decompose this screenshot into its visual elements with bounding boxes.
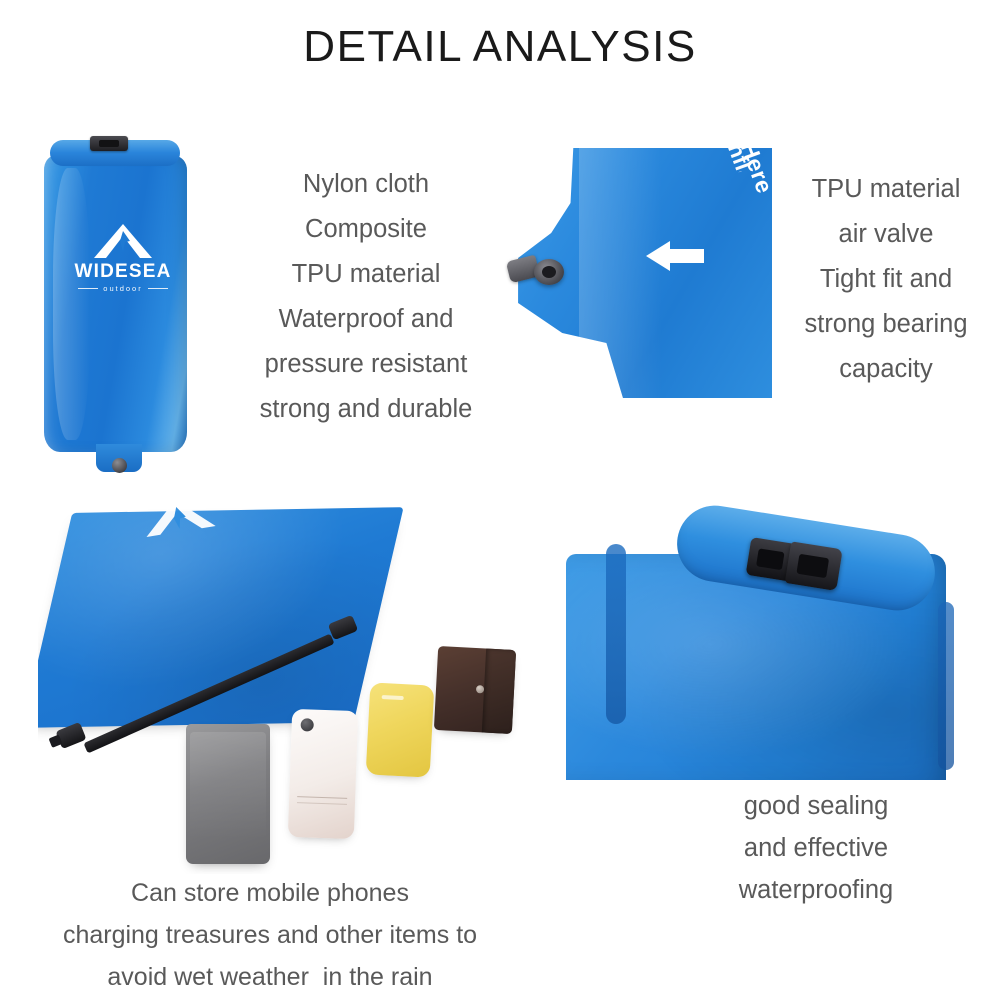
- detail-analysis-page: DETAIL ANALYSIS WIDESEA outdoor Inflatab…: [0, 0, 1000, 1000]
- caption-storage: Can store mobile phones charging treasur…: [30, 872, 510, 998]
- sealing-line-3: waterproofing: [690, 869, 942, 911]
- phone-camera-icon: [300, 718, 313, 731]
- material-line-1: Nylon cloth: [232, 162, 500, 207]
- mountain-peak-icon: [131, 492, 222, 543]
- caption-sealing: good sealing and effective waterproofing: [690, 785, 942, 911]
- material-line-3: TPU material: [232, 252, 500, 297]
- material-line-5: pressure resistant: [232, 342, 500, 387]
- valve-line-5: capacity: [772, 347, 1000, 392]
- item-white-smartphone: [288, 709, 358, 839]
- item-yellow-power-bank: [366, 682, 435, 777]
- bag-buckle-icon: [90, 136, 128, 151]
- valve-line-2: air valve: [772, 212, 1000, 257]
- product-photo-rolled-bag: [548, 492, 1000, 780]
- material-line-6: strong and durable: [232, 387, 500, 432]
- item-brown-leather-wallet: [434, 646, 516, 734]
- product-photo-bag-standing: WIDESEA outdoor Inflatable Here: [28, 118, 218, 473]
- valve-line-4: strong bearing: [772, 302, 1000, 347]
- valve-line-3: Tight fit and: [772, 257, 1000, 302]
- material-line-2: Composite: [232, 207, 500, 252]
- item-grey-towel: [186, 724, 270, 864]
- phone-antenna-line: [297, 796, 347, 799]
- sealing-line-2: and effective: [690, 827, 942, 869]
- sealing-line-1: good sealing: [690, 785, 942, 827]
- bag-body-shape: [44, 156, 187, 452]
- rolled-bag-left-seam: [606, 544, 626, 724]
- product-photo-air-valve: Inflatable Here: [480, 118, 772, 410]
- storage-line-2: charging treasures and other items to: [30, 914, 510, 956]
- wallet-flap: [482, 649, 516, 734]
- rolled-bag-right-seam: [938, 602, 954, 770]
- caption-valve: TPU material air valve Tight fit and str…: [772, 167, 1000, 392]
- valve-neck-icon: [534, 259, 564, 285]
- bag-nozzle-icon: [112, 458, 127, 473]
- product-photo-flat-bag-accessories: [38, 492, 524, 874]
- storage-line-1: Can store mobile phones: [30, 872, 510, 914]
- material-line-4: Waterproof and: [232, 297, 500, 342]
- power-bank-led-indicator: [382, 695, 404, 700]
- storage-line-3: avoid wet weather in the rain: [30, 956, 510, 998]
- valve-line-1: TPU material: [772, 167, 1000, 212]
- page-title: DETAIL ANALYSIS: [0, 22, 1000, 72]
- caption-material: Nylon cloth Composite TPU material Water…: [232, 162, 500, 432]
